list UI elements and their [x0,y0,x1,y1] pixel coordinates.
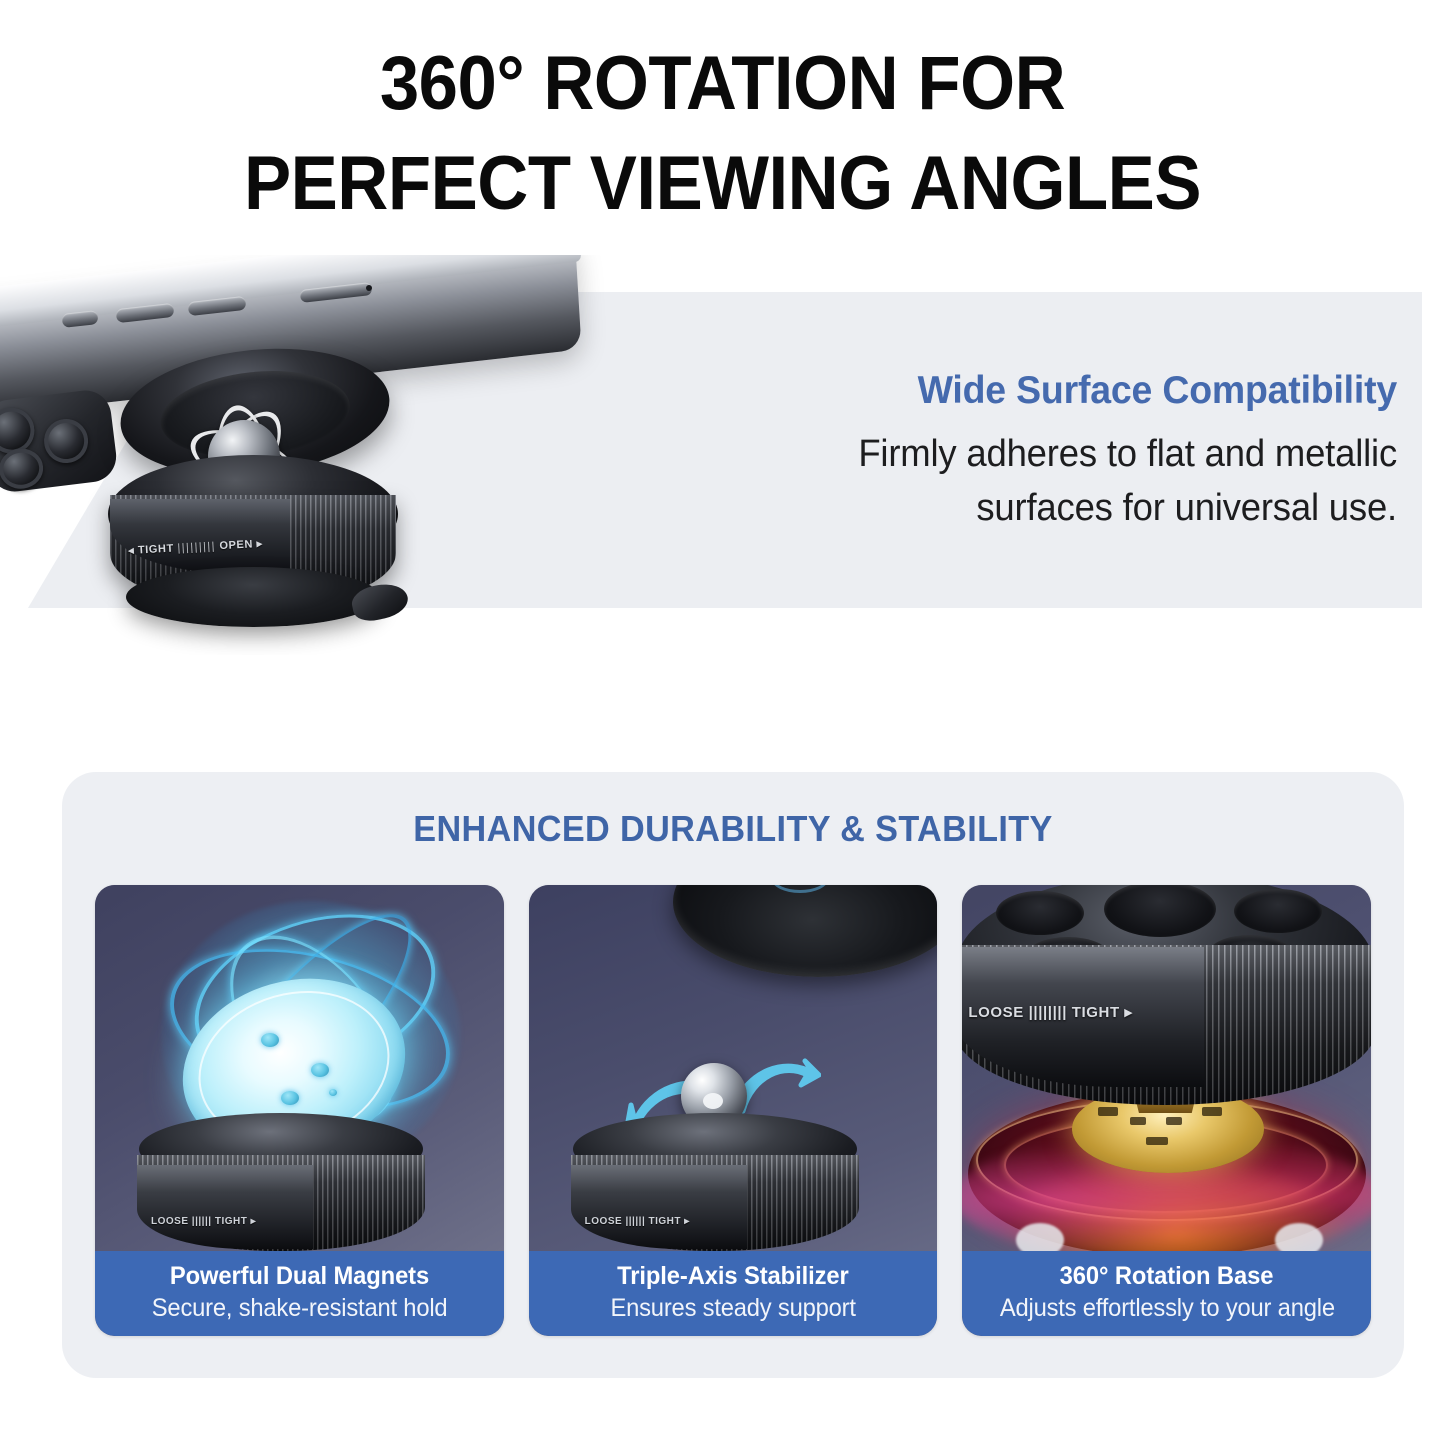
card-caption-title: Triple-Axis Stabilizer [617,1263,849,1291]
gold-plate-notch-icon [1146,1137,1168,1145]
hero-title: Wide Surface Compatibility [783,366,1397,416]
hero-description: Firmly adheres to flat and metallic surf… [783,428,1397,536]
card-caption-subtitle: Adjusts effortlessly to your angle [999,1295,1334,1323]
gold-plate-notch-icon [1166,1117,1182,1125]
phone-microphone-icon [366,285,372,291]
magnet-node-icon [311,1063,329,1077]
feature-card-rotation-base[interactable]: LOOSE |||||||| TIGHT ▸ 360° Rotation Bas… [962,885,1371,1336]
magnet-node-icon [281,1091,299,1105]
card-caption-subtitle: Ensures steady support [611,1295,856,1323]
camera-lens-icon [42,417,91,466]
hero-description-line-1: Firmly adheres to flat and metallic [783,428,1397,482]
panel-title: ENHANCED DURABILITY & STABILITY [96,808,1371,850]
card-caption-title: 360° Rotation Base [1060,1263,1274,1291]
headline-line-2: PERFECT VIEWING ANGLES [51,134,1395,234]
card-illustration-dual-magnets: LOOSE |||||| TIGHT ▸ [95,885,504,1251]
dial-open-marker: OPEN ▸ [219,538,263,552]
base-cutout-icon [1104,885,1216,937]
hero-text-block: Wide Surface Compatibility Firmly adhere… [757,366,1397,536]
product-feature-page: 360° ROTATION FOR PERFECT VIEWING ANGLES… [0,0,1445,1445]
gold-plate-notch-icon [1098,1107,1118,1116]
card-caption-title: Powerful Dual Magnets [170,1263,429,1291]
card-dial-label: LOOSE |||||| TIGHT ▸ [585,1216,690,1227]
camera-lens-icon [0,446,45,491]
mount-base-foot [126,567,380,627]
rotation-base-dial-label: LOOSE |||||||| TIGHT ▸ [968,1003,1132,1021]
feature-card-dual-magnets[interactable]: LOOSE |||||| TIGHT ▸ Powerful Dual Magne… [95,885,504,1336]
dial-tight-marker: ◂ TIGHT [128,543,174,557]
card-caption-dual-magnets: Powerful Dual Magnets Secure, shake-resi… [95,1251,504,1336]
card-dial-label: LOOSE |||||| TIGHT ▸ [151,1216,256,1227]
feature-card-list: LOOSE |||||| TIGHT ▸ Powerful Dual Magne… [95,885,1371,1336]
card-caption-stabilizer: Triple-Axis Stabilizer Ensures steady su… [529,1251,938,1336]
dial-ticks: ||||||||| [177,540,216,554]
page-title: 360° ROTATION FOR PERFECT VIEWING ANGLES [51,34,1395,235]
card-illustration-rotation-base: LOOSE |||||||| TIGHT ▸ [962,885,1371,1251]
gold-plate-notch-icon [1202,1107,1222,1116]
card-caption-rotation-base: 360° Rotation Base Adjusts effortlessly … [962,1251,1371,1336]
magnet-node-icon [261,1033,279,1047]
base-foot-icon [1275,1223,1323,1251]
durability-panel: ENHANCED DURABILITY & STABILITY [62,772,1404,1378]
card-caption-subtitle: Secure, shake-resistant hold [152,1295,448,1323]
base-foot-icon [1016,1223,1064,1251]
card-illustration-stabilizer: LOOSE |||||| TIGHT ▸ [529,885,938,1251]
hero-description-line-2: surfaces for universal use. [783,482,1397,536]
headline-line-1: 360° ROTATION FOR [51,34,1395,134]
base-cutout-icon [996,891,1084,935]
phone-camera-module [0,388,119,495]
gold-plate-notch-icon [1130,1117,1146,1125]
hero-product-photo: ◂ TIGHT ||||||||| OPEN ▸ [0,255,620,655]
magnet-node-icon [329,1089,337,1096]
base-cutout-icon [1234,889,1322,933]
feature-card-triple-axis-stabilizer[interactable]: LOOSE |||||| TIGHT ▸ Triple-Axis Stabili… [529,885,938,1336]
